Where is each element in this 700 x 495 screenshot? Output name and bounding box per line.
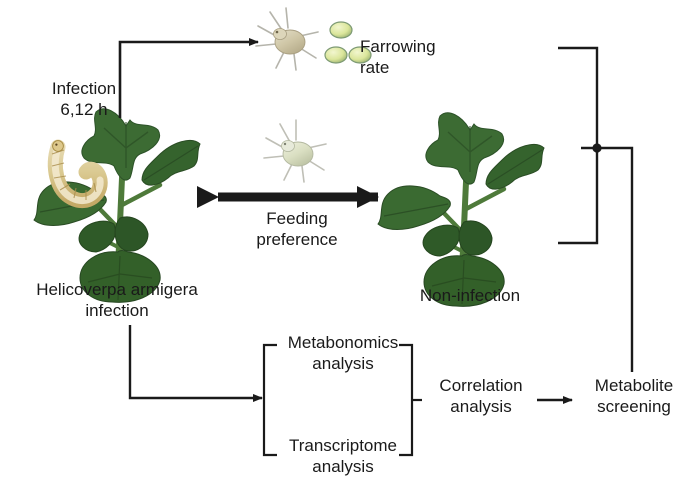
- label-feeding-preference: Feedingpreference: [232, 208, 362, 250]
- farrowing-line-1: Farrowing: [360, 37, 436, 56]
- arrow-infection-to-analysis: [130, 325, 262, 398]
- label-plant-left: Helicoverpa armigerainfection: [6, 279, 228, 321]
- non-infection-state: Non-infection: [420, 286, 520, 305]
- label-metabonomics-analysis: Metabonomicsanalysis: [268, 332, 418, 374]
- metabonomics-line-1: Metabonomics: [288, 333, 399, 352]
- transcriptome-line-2: analysis: [312, 457, 373, 476]
- species-name: Helicoverpa armigera: [36, 280, 198, 299]
- correlation-line-2: analysis: [450, 397, 511, 416]
- infection-state: infection: [85, 301, 148, 320]
- figure-canvas: Infection6,12 h Farrowingrate Feedingpre…: [0, 0, 700, 495]
- metabonomics-line-2: analysis: [312, 354, 373, 373]
- infection-line-1: Infection: [52, 79, 116, 98]
- infection-line-2: 6,12 h: [60, 100, 107, 119]
- label-plant-right: Non-infection: [385, 285, 555, 306]
- label-correlation-analysis: Correlationanalysis: [423, 375, 539, 417]
- plant-right-healthy: [378, 113, 544, 306]
- plant-left-infected: [34, 109, 200, 302]
- label-farrowing-rate: Farrowingrate: [360, 36, 490, 78]
- bracket-plants-to-metabolite: [558, 48, 632, 372]
- junction-dot-icon: [592, 143, 601, 152]
- label-infection-duration: Infection6,12 h: [28, 78, 140, 120]
- arrow-infection-to-aphid: [120, 42, 258, 118]
- correlation-line-1: Correlation: [439, 376, 522, 395]
- metabolite-line-2: screening: [597, 397, 671, 416]
- transcriptome-line-1: Transcriptome: [289, 436, 397, 455]
- aphid-middle-icon: [264, 120, 326, 182]
- label-metabolite-screening: Metabolitescreening: [574, 375, 694, 417]
- feeding-line-2: preference: [256, 230, 337, 249]
- metabolite-line-1: Metabolite: [595, 376, 673, 395]
- farrowing-line-2: rate: [360, 58, 389, 77]
- label-transcriptome-analysis: Transcriptomeanalysis: [268, 435, 418, 477]
- feeding-line-1: Feeding: [266, 209, 327, 228]
- aphid-top-icon: [256, 8, 318, 70]
